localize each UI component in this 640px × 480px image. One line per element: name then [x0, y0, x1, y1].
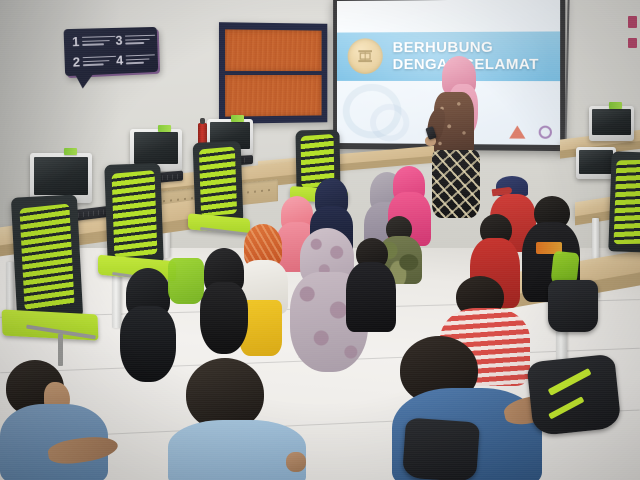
workstation-3-green-sticker	[64, 148, 77, 155]
classroom-photo-scene: 1 3 2 4	[0, 0, 640, 480]
chair-1-backrest	[11, 194, 83, 319]
chair-2-backrest	[104, 163, 163, 265]
backpack-neon-stripe-1	[548, 368, 592, 396]
presenter	[424, 56, 484, 216]
presenter-batik-skirt	[432, 150, 480, 218]
backpack-black-right	[548, 280, 598, 332]
workstation-4-green-sticker	[231, 115, 244, 122]
chair-1[interactable]	[11, 194, 83, 319]
poster-number-2: 2	[73, 55, 81, 69]
attendee-blue-shirt-center-body	[168, 420, 306, 480]
numbered-wall-poster: 1 3 2 4	[64, 27, 159, 76]
backpack-neon-stripe-2	[548, 396, 584, 419]
wall-mark-upper	[628, 16, 637, 28]
attendee-blue-shirt-left	[0, 360, 130, 480]
chair-2[interactable]	[104, 163, 163, 265]
attendee-blue-shirt-center	[168, 358, 308, 480]
poster-number-1: 1	[72, 35, 80, 48]
attendee-red-shirt-body	[346, 262, 396, 332]
attendee-side-left-drape	[120, 306, 176, 382]
cork-bulletin-board	[219, 22, 327, 124]
workstation-1-green-sticker	[609, 102, 622, 109]
chair-3[interactable]	[193, 141, 244, 223]
tote-green-left	[168, 258, 204, 304]
attendee-red-shirt-boy	[346, 238, 396, 330]
workstation-5-green-sticker	[158, 125, 171, 132]
workstation-1-monitor	[589, 106, 634, 141]
wall-mark-lower	[628, 38, 637, 48]
cork-panel-bottom	[225, 75, 322, 117]
poster-number-4: 4	[116, 54, 123, 67]
attendee-black-hijab-drape	[200, 282, 248, 354]
chair-3-backrest	[193, 141, 244, 223]
attendee-black-hijab	[196, 248, 252, 352]
backpack-black-floor-center	[402, 417, 480, 480]
backpack-black-neon	[526, 354, 621, 437]
chair-5-backrest	[608, 151, 640, 252]
attendee-blue-shirt-center-hand	[286, 452, 306, 472]
chair-5[interactable]	[608, 151, 640, 252]
poster-number-3: 3	[115, 34, 122, 47]
cork-panel-top	[225, 29, 322, 71]
